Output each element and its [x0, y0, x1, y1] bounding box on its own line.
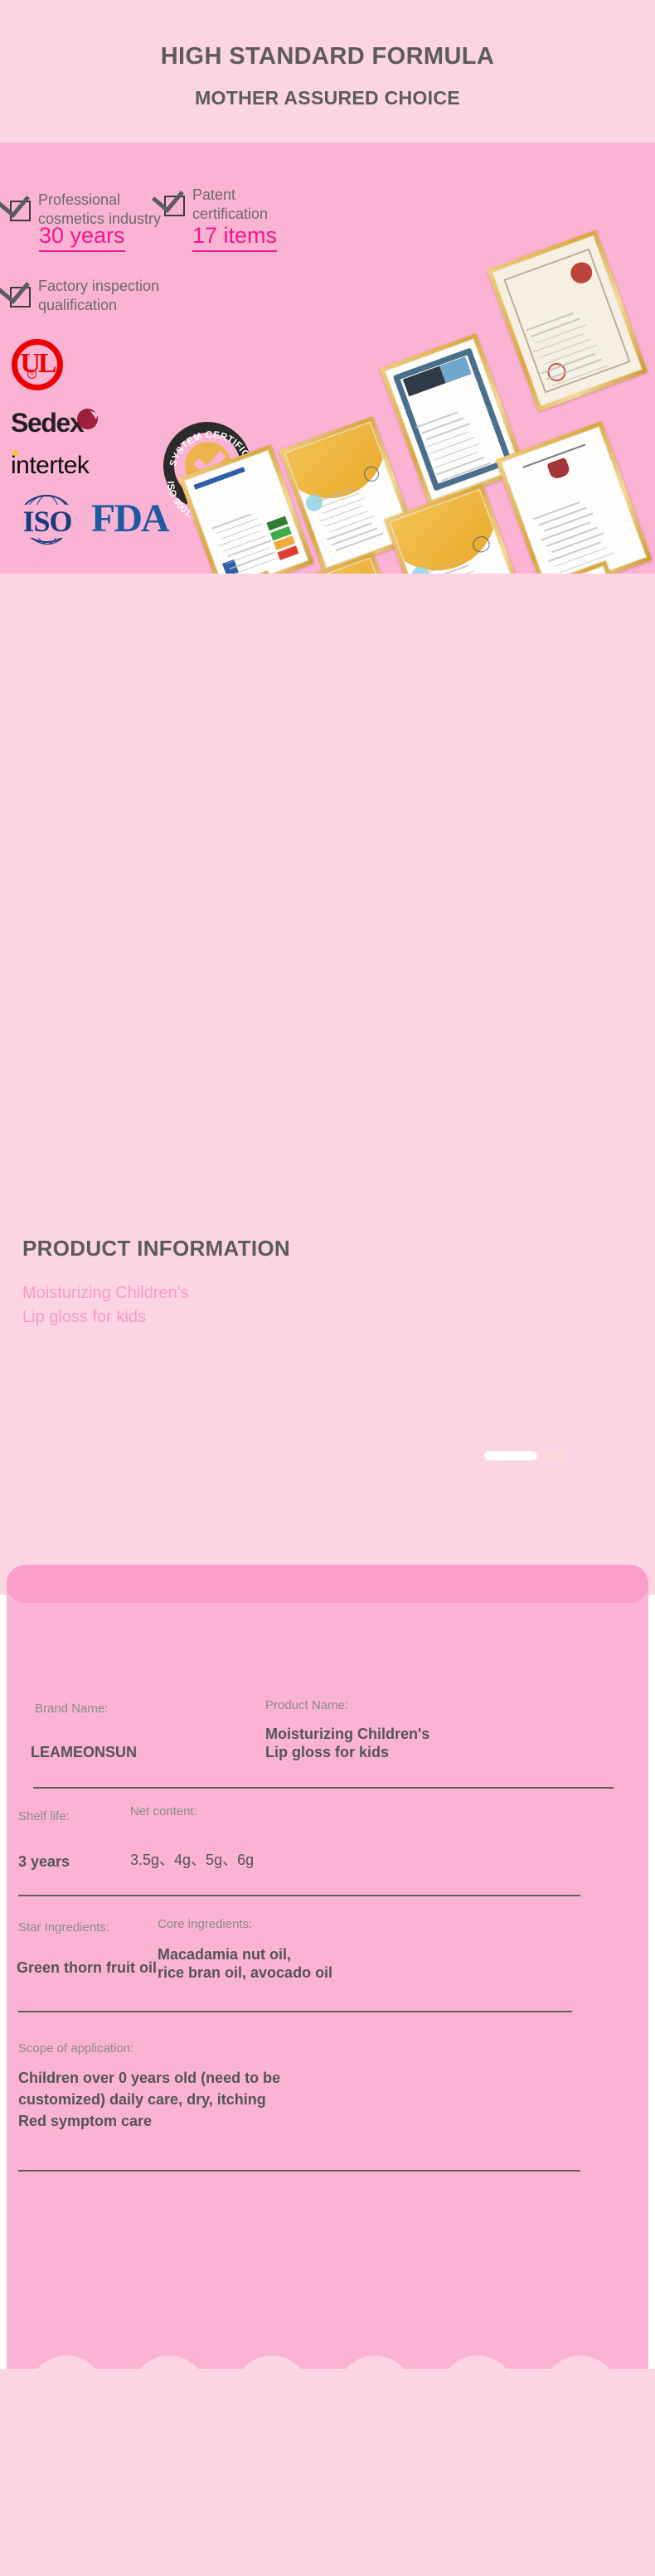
- spec-value-brand: LEAMEONSUN: [31, 1744, 137, 1762]
- carousel-dot[interactable]: [542, 1451, 551, 1460]
- certificate-thumbnail: [487, 230, 648, 412]
- product-subtitle: Moisturizing Children's Lip gloss for ki…: [22, 1281, 189, 1329]
- checklist-value-years: 30 years: [39, 224, 125, 252]
- hero-subheadline: MOTHER ASSURED CHOICE: [195, 89, 460, 108]
- checklist-item-label: Patent certification: [192, 184, 268, 224]
- iso-logo: ISO: [12, 495, 83, 543]
- spec-value-scope: Children over 0 years old (need to be cu…: [18, 2067, 280, 2132]
- page-title: PRODUCT INFORMATION: [22, 1237, 290, 1259]
- spec-label-core-ingredients: Core ingredients:: [158, 1918, 252, 1930]
- row-divider: [18, 2170, 580, 2172]
- sedex-logo-text: Sedex: [11, 409, 83, 436]
- checklist-item-factory: Factory inspection qualification: [10, 275, 176, 315]
- spec-value-product-name: Moisturizing Children's Lip gloss for ki…: [265, 1726, 429, 1761]
- ul-logo-text: UL: [20, 350, 54, 378]
- checkbox-checked-icon: [10, 201, 31, 221]
- hero-headline: HIGH STANDARD FORMULA: [161, 45, 495, 69]
- row-divider: [18, 2011, 572, 2012]
- spec-label-product-name: Product Name:: [265, 1699, 348, 1712]
- spec-label-brand: Brand Name:: [35, 1702, 108, 1715]
- sedex-logo: Sedex: [11, 409, 98, 436]
- registered-mark-icon: ®: [27, 370, 36, 379]
- ul-logo: UL ®: [12, 339, 63, 390]
- intertek-logo: intertek: [11, 453, 89, 478]
- checklist-item-label: Factory inspection qualification: [38, 275, 159, 315]
- spec-value-star-ingredients: Green thorn fruit oil: [17, 1959, 157, 1978]
- spec-card-top-bar: [7, 1565, 648, 1603]
- row-divider: [18, 1895, 580, 1896]
- checklist-item-patent: Patent certification: [164, 184, 313, 224]
- spec-label-shelf-life: Shelf life:: [18, 1810, 70, 1823]
- spec-value-net-content: 3.5g、4g、5g、6g: [130, 1852, 254, 1870]
- certificate-thumbnail: [496, 421, 653, 574]
- spec-value-shelf-life: 3 years: [18, 1853, 70, 1871]
- spec-label-scope: Scope of application:: [18, 2042, 133, 2055]
- carousel-indicator[interactable]: [484, 1451, 565, 1460]
- certificate-collage: [192, 240, 655, 574]
- spec-label-net-content: Net content:: [130, 1805, 197, 1818]
- product-information-section: [0, 574, 655, 1595]
- footer-area: [0, 2369, 655, 2576]
- checkbox-checked-icon: [164, 196, 185, 216]
- certificate-thumbnail: [384, 484, 530, 574]
- row-divider: [33, 1787, 614, 1789]
- carousel-dot[interactable]: [556, 1451, 565, 1460]
- spec-label-star-ingredients: Star Ingredients:: [18, 1921, 109, 1934]
- fda-logo: FDA: [91, 499, 168, 539]
- intertek-logo-text: intertek: [11, 452, 89, 479]
- intertek-dot-icon: [12, 450, 18, 456]
- sedex-dot-icon: [77, 409, 98, 429]
- iso-logo-text: ISO: [12, 505, 83, 538]
- checkbox-checked-icon: [10, 287, 31, 307]
- carousel-dot-active[interactable]: [484, 1451, 537, 1460]
- certifications-section: Professional cosmetics industry 30 years…: [0, 143, 655, 574]
- spec-value-core-ingredients: Macadamia nut oil, rice bran oil, avocad…: [158, 1946, 332, 1982]
- hero-banner: HIGH STANDARD FORMULA MOTHER ASSURED CHO…: [0, 0, 655, 143]
